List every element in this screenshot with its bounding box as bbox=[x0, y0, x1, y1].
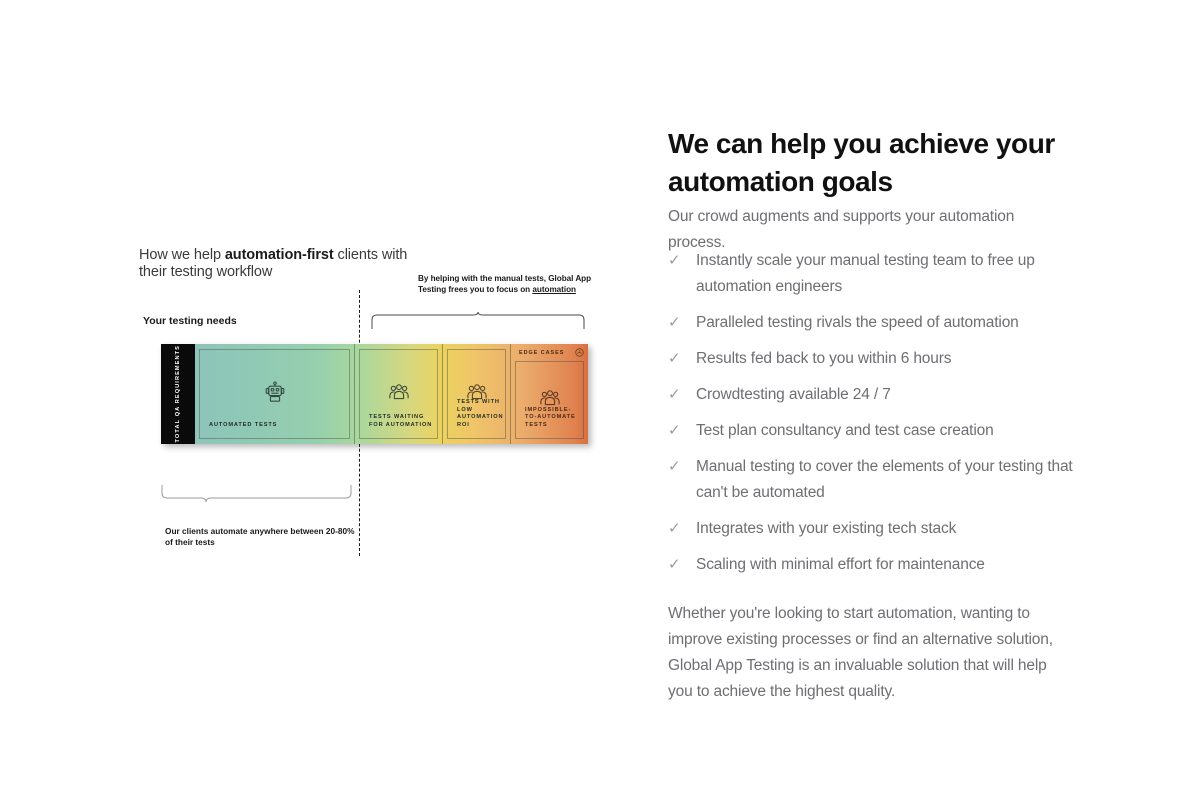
segment-impossible-label: IMPOSSIBLE-TO-AUTOMATE TESTS bbox=[525, 407, 583, 430]
segment-impossible-to-automate-tests: EDGE CASES bbox=[511, 344, 588, 444]
list-item: ✓Results fed back to you within 6 hours bbox=[668, 346, 1078, 372]
page-title: We can help you achieve your automation … bbox=[668, 125, 1068, 201]
qa-requirements-bar: TOTAL QA REQUIREMENTS bbox=[161, 344, 588, 444]
list-item: ✓Instantly scale your manual testing tea… bbox=[668, 248, 1078, 300]
list-item: ✓Crowdtesting available 24 / 7 bbox=[668, 382, 1078, 408]
people-group-icon bbox=[540, 390, 560, 406]
manual-tests-bracket bbox=[370, 312, 586, 330]
diagram-title-emphasis: automation-first bbox=[225, 247, 334, 263]
check-icon: ✓ bbox=[668, 516, 680, 542]
your-testing-needs-label: Your testing needs bbox=[143, 315, 237, 327]
list-item-label: Manual testing to cover the elements of … bbox=[696, 458, 1073, 501]
edge-cases-label: EDGE CASES bbox=[519, 350, 564, 356]
segment-automated-tests-label: AUTOMATED TESTS bbox=[209, 422, 277, 430]
check-icon: ✓ bbox=[668, 454, 680, 480]
list-item-label: Scaling with minimal effort for maintena… bbox=[696, 556, 985, 573]
list-item-label: Instantly scale your manual testing team… bbox=[696, 252, 1035, 295]
segment-tests-with-low-automation-roi: TESTS WITH LOW AUTOMATION ROI bbox=[443, 344, 511, 444]
list-item-label: Test plan consultancy and test case crea… bbox=[696, 422, 994, 439]
diagram-title: How we help automation-first clients wit… bbox=[139, 247, 419, 281]
people-group-icon bbox=[467, 384, 487, 400]
check-icon: ✓ bbox=[668, 418, 680, 444]
list-item: ✓Test plan consultancy and test case cre… bbox=[668, 418, 1078, 444]
edge-cases-tag: EDGE CASES bbox=[519, 348, 584, 357]
automation-percentage-note: Our clients automate anywhere between 20… bbox=[165, 526, 355, 547]
closing-paragraph: Whether you're looking to start automati… bbox=[668, 601, 1068, 705]
robot-icon bbox=[265, 381, 285, 403]
list-item: ✓Integrates with your existing tech stac… bbox=[668, 516, 1078, 542]
list-item: ✓Manual testing to cover the elements of… bbox=[668, 454, 1078, 506]
check-icon: ✓ bbox=[668, 382, 680, 408]
list-item: ✓Scaling with minimal effort for mainten… bbox=[668, 552, 1078, 578]
segment-tests-waiting-label: TESTS WAITING FOR AUTOMATION bbox=[369, 414, 437, 429]
check-icon: ✓ bbox=[668, 248, 680, 274]
list-item-label: Results fed back to you within 6 hours bbox=[696, 350, 951, 367]
check-icon: ✓ bbox=[668, 552, 680, 578]
list-item-label: Crowdtesting available 24 / 7 bbox=[696, 386, 891, 403]
check-icon: ✓ bbox=[668, 346, 680, 372]
automation-workflow-diagram: How we help automation-first clients wit… bbox=[0, 0, 640, 796]
diagram-title-prefix: How we help bbox=[139, 247, 225, 263]
segment-tests-waiting-box: TESTS WAITING FOR AUTOMATION bbox=[359, 349, 438, 439]
diagram-callout-note: By helping with the manual tests, Global… bbox=[418, 274, 598, 295]
segment-impossible-box: IMPOSSIBLE-TO-AUTOMATE TESTS bbox=[515, 361, 584, 439]
check-icon: ✓ bbox=[668, 310, 680, 336]
list-item-label: Paralleled testing rivals the speed of a… bbox=[696, 314, 1019, 331]
segment-tests-waiting-for-automation: TESTS WAITING FOR AUTOMATION bbox=[355, 344, 443, 444]
list-item-label: Integrates with your existing tech stack bbox=[696, 520, 956, 537]
segment-automated-tests-box: AUTOMATED TESTS bbox=[199, 349, 350, 439]
people-group-icon bbox=[389, 384, 409, 400]
segment-automated-tests: AUTOMATED TESTS bbox=[195, 344, 355, 444]
automation-range-bracket bbox=[160, 484, 353, 502]
benefits-list: ✓Instantly scale your manual testing tea… bbox=[668, 248, 1078, 588]
segment-low-roi-label: TESTS WITH LOW AUTOMATION ROI bbox=[457, 399, 505, 429]
segment-low-roi-box: TESTS WITH LOW AUTOMATION ROI bbox=[447, 349, 506, 439]
segment-total-qa-requirements: TOTAL QA REQUIREMENTS bbox=[161, 344, 195, 444]
edge-case-circle-icon bbox=[575, 348, 584, 357]
total-qa-requirements-label: TOTAL QA REQUIREMENTS bbox=[175, 345, 182, 442]
list-item: ✓Paralleled testing rivals the speed of … bbox=[668, 310, 1078, 336]
callout-underlined-word: automation bbox=[532, 285, 576, 294]
